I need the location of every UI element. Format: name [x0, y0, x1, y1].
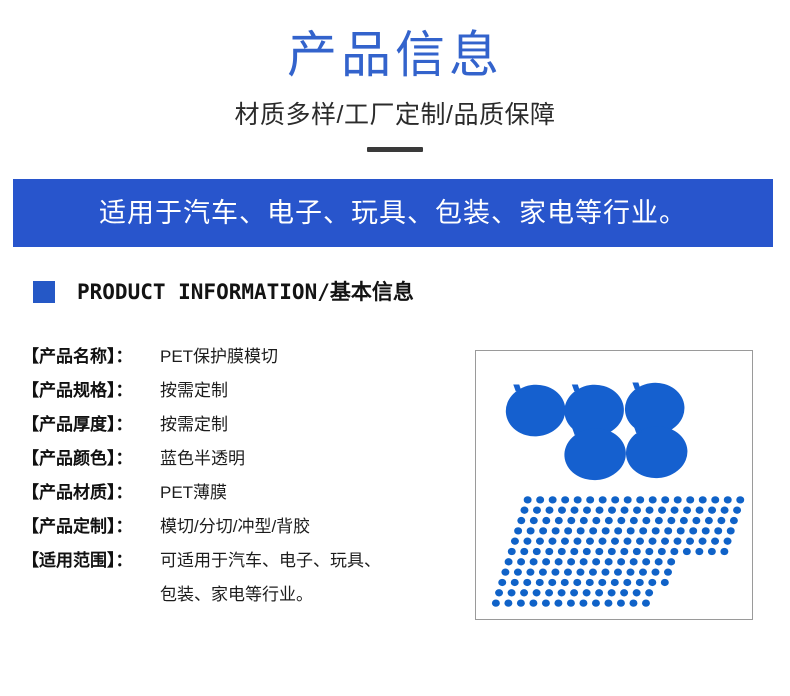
section-title: PRODUCT INFORMATION/基本信息: [77, 280, 414, 304]
die-cut-dot: [689, 527, 697, 534]
die-cut-dot: [664, 527, 672, 534]
die-cut-dot: [596, 507, 604, 514]
die-cut-dot: [536, 538, 544, 545]
product-illustration: [476, 351, 752, 619]
die-cut-dot: [508, 589, 516, 596]
spec-row: 【适用范围】： 可适用于汽车、电子、玩具、: [22, 544, 452, 578]
die-cut-dot: [530, 517, 538, 524]
spec-row: 【产品定制】： 模切/分切/冲型/背胶: [22, 510, 452, 544]
spec-label: 【产品颜色】：: [22, 442, 160, 476]
die-cut-dot: [724, 538, 732, 545]
die-cut-dot: [548, 538, 556, 545]
die-cut-dot: [523, 579, 531, 586]
die-cut-dot: [708, 548, 716, 555]
die-cut-dot: [652, 527, 660, 534]
die-cut-dot: [583, 589, 591, 596]
die-cut-dot: [505, 558, 513, 565]
die-cut-dot: [592, 517, 600, 524]
die-cut-dot: [627, 527, 635, 534]
die-cut-dot: [627, 568, 635, 575]
die-cut-dot: [545, 589, 553, 596]
die-cut-dot: [564, 568, 572, 575]
die-cut-dot: [686, 538, 694, 545]
spec-value: 包装、家电等行业。: [160, 578, 313, 612]
die-cut-dot: [683, 507, 691, 514]
die-cut-dot: [545, 548, 553, 555]
die-cut-dot: [639, 568, 647, 575]
die-cut-dot: [567, 517, 575, 524]
die-cut-dot: [548, 579, 556, 586]
die-cut-dot: [574, 538, 582, 545]
die-cut-dot: [520, 548, 528, 555]
die-cut-dot: [646, 507, 654, 514]
die-cut-dot: [711, 496, 719, 503]
die-cut-dot: [645, 589, 653, 596]
die-cut-dot: [671, 507, 679, 514]
die-cut-dot: [642, 558, 650, 565]
die-cut-dot: [514, 527, 522, 534]
die-cut-dot: [720, 548, 728, 555]
die-cut-dot: [592, 558, 600, 565]
die-cut-dot: [664, 568, 672, 575]
die-cut-dot: [614, 527, 622, 534]
spec-row: 【产品颜色】： 蓝色半透明: [22, 442, 452, 476]
spec-value: 可适用于汽车、电子、玩具、: [160, 544, 381, 578]
spec-row-continuation: 【适用范围】： 包装、家电等行业。: [22, 578, 452, 612]
die-cut-dot: [558, 507, 566, 514]
die-cut-dot: [554, 599, 562, 606]
die-cut-dot: [530, 558, 538, 565]
die-cut-dot: [696, 507, 704, 514]
die-cut-dot: [592, 599, 600, 606]
die-cut-dot: [636, 496, 644, 503]
product-image: [475, 350, 753, 620]
spec-label: 【产品厚度】：: [22, 408, 160, 442]
die-cut-dot: [542, 517, 550, 524]
die-cut-dot: [683, 548, 691, 555]
die-cut-dot: [524, 496, 532, 503]
die-cut-dot: [599, 496, 607, 503]
die-cut-dot: [624, 538, 632, 545]
industry-banner-text: 适用于汽车、电子、玩具、包装、家电等行业。: [99, 197, 687, 229]
die-cut-dot: [595, 589, 603, 596]
die-cut-dot: [511, 538, 519, 545]
die-cut-dot: [708, 507, 716, 514]
die-cut-dot: [533, 507, 541, 514]
die-cut-dot: [570, 589, 578, 596]
die-cut-dot: [608, 548, 616, 555]
die-cut-dot: [658, 548, 666, 555]
die-cut-dot: [639, 527, 647, 534]
die-cut-dot: [617, 599, 625, 606]
page-header: 产品信息 材质多样/工厂定制/品质保障: [0, 0, 790, 152]
die-cut-dot: [517, 599, 525, 606]
die-cut-dot: [558, 548, 566, 555]
die-cut-dot: [633, 589, 641, 596]
die-cut-dot: [495, 589, 503, 596]
die-cut-dot: [576, 568, 584, 575]
die-cut-dot: [648, 579, 656, 586]
die-cut-dot: [599, 538, 607, 545]
page-subtitle: 材质多样/工厂定制/品质保障: [0, 100, 790, 130]
specification-list: 【产品名称】： PET保护膜模切 【产品规格】： 按需定制 【产品厚度】： 按需…: [22, 340, 452, 612]
die-cut-dot: [630, 558, 638, 565]
spec-value: 按需定制: [160, 374, 228, 408]
die-cut-dot: [692, 517, 700, 524]
die-cut-dot: [633, 507, 641, 514]
die-cut-dot: [564, 527, 572, 534]
die-cut-dot: [629, 599, 637, 606]
die-cut-dot: [546, 507, 554, 514]
die-cut-dot: [536, 496, 544, 503]
die-cut-disc: [624, 423, 689, 481]
spec-label: 【适用范围】：: [22, 544, 160, 578]
die-cut-disc-group: [504, 379, 689, 482]
die-cut-dot: [598, 579, 606, 586]
die-cut-dot: [645, 548, 653, 555]
die-cut-dot: [717, 517, 725, 524]
die-cut-dot: [652, 568, 660, 575]
die-cut-dot: [661, 496, 669, 503]
die-cut-dot: [736, 496, 744, 503]
die-cut-dot: [514, 568, 522, 575]
die-cut-dot: [555, 558, 563, 565]
die-cut-dot: [580, 517, 588, 524]
die-cut-dot: [533, 589, 541, 596]
die-cut-dot: [561, 538, 569, 545]
die-cut-dot: [721, 507, 729, 514]
die-cut-dot: [705, 517, 713, 524]
die-cut-dot: [714, 527, 722, 534]
die-cut-dot: [570, 548, 578, 555]
die-cut-dot: [621, 507, 629, 514]
spec-row: 【产品厚度】： 按需定制: [22, 408, 452, 442]
die-cut-dot: [686, 496, 694, 503]
spec-label: 【产品材质】：: [22, 476, 160, 510]
die-cut-dot: [571, 507, 579, 514]
die-cut-dot: [555, 517, 563, 524]
die-cut-dot: [605, 558, 613, 565]
die-cut-dot: [649, 538, 657, 545]
spec-row: 【产品规格】： 按需定制: [22, 374, 452, 408]
die-cut-dot: [605, 517, 613, 524]
die-cut-dot: [727, 527, 735, 534]
die-cut-dot: [595, 548, 603, 555]
die-cut-dot: [536, 579, 544, 586]
die-cut-dot: [604, 599, 612, 606]
die-cut-dot: [674, 496, 682, 503]
die-cut-dot: [539, 527, 547, 534]
dot-array-group: [492, 496, 744, 607]
die-cut-dot: [630, 517, 638, 524]
die-cut-dot: [567, 599, 575, 606]
die-cut-dot: [661, 538, 669, 545]
die-cut-dot: [586, 496, 594, 503]
spec-label: 【产品定制】：: [22, 510, 160, 544]
spec-value: PET保护膜模切: [160, 340, 278, 374]
die-cut-dot: [558, 589, 566, 596]
die-cut-dot: [517, 517, 525, 524]
die-cut-dot: [583, 548, 591, 555]
die-cut-dot: [501, 568, 509, 575]
die-cut-dot: [498, 579, 506, 586]
die-cut-dot: [655, 558, 663, 565]
die-cut-dot: [633, 548, 641, 555]
die-cut-disc: [563, 425, 628, 483]
die-cut-dot: [551, 568, 559, 575]
die-cut-dot: [520, 507, 528, 514]
die-cut-dot: [561, 579, 569, 586]
die-cut-dot: [589, 527, 597, 534]
die-cut-dot: [711, 538, 719, 545]
die-cut-dot: [552, 527, 560, 534]
die-cut-dot: [642, 599, 650, 606]
die-cut-dot: [661, 579, 669, 586]
die-cut-dot: [614, 568, 622, 575]
die-cut-dot: [611, 538, 619, 545]
die-cut-dot: [602, 527, 610, 534]
square-marker-icon: [33, 281, 55, 303]
die-cut-dot: [702, 527, 710, 534]
die-cut-dot: [542, 558, 550, 565]
die-cut-dot: [636, 579, 644, 586]
die-cut-dot: [492, 599, 500, 606]
die-cut-dot: [511, 579, 519, 586]
die-cut-dot: [549, 496, 557, 503]
die-cut-disc: [504, 381, 567, 438]
die-cut-dot: [523, 538, 531, 545]
die-cut-dot: [724, 496, 732, 503]
spec-value: 按需定制: [160, 408, 228, 442]
spec-value: 蓝色半透明: [160, 442, 245, 476]
die-cut-dot: [526, 568, 534, 575]
die-cut-dot: [680, 517, 688, 524]
die-cut-dot: [608, 589, 616, 596]
spec-row: 【产品名称】： PET保护膜模切: [22, 340, 452, 374]
die-cut-dot: [642, 517, 650, 524]
die-cut-dot: [577, 527, 585, 534]
die-cut-dot: [667, 558, 675, 565]
die-cut-dot: [542, 599, 550, 606]
die-cut-dot: [579, 599, 587, 606]
die-cut-dot: [517, 558, 525, 565]
die-cut-dot: [636, 538, 644, 545]
die-cut-dot: [520, 589, 528, 596]
die-cut-dot: [620, 589, 628, 596]
die-cut-dot: [699, 496, 707, 503]
die-cut-dot: [677, 527, 685, 534]
die-cut-dot: [695, 548, 703, 555]
die-cut-dot: [504, 599, 512, 606]
die-cut-dot: [574, 496, 582, 503]
industry-banner: 适用于汽车、电子、玩具、包装、家电等行业。: [13, 179, 773, 247]
die-cut-dot: [589, 568, 597, 575]
die-cut-dot: [699, 538, 707, 545]
section-header: PRODUCT INFORMATION/基本信息: [33, 280, 414, 304]
die-cut-dot: [586, 579, 594, 586]
die-cut-dot: [583, 507, 591, 514]
die-cut-dot: [624, 496, 632, 503]
die-cut-dot: [573, 579, 581, 586]
spec-row: 【产品材质】： PET薄膜: [22, 476, 452, 510]
die-cut-dot: [529, 599, 537, 606]
die-cut-dot: [539, 568, 547, 575]
die-cut-dot: [670, 548, 678, 555]
die-cut-dot: [533, 548, 541, 555]
die-cut-dot: [667, 517, 675, 524]
die-cut-dot: [617, 517, 625, 524]
die-cut-dot: [658, 507, 666, 514]
product-information-page: 产品信息 材质多样/工厂定制/品质保障 适用于汽车、电子、玩具、包装、家电等行业…: [0, 0, 790, 696]
die-cut-dot: [623, 579, 631, 586]
die-cut-dot: [608, 507, 616, 514]
die-cut-dot: [617, 558, 625, 565]
die-cut-dot: [611, 496, 619, 503]
die-cut-dot: [601, 568, 609, 575]
spec-label: 【产品名称】：: [22, 340, 160, 374]
die-cut-dot: [730, 517, 738, 524]
die-cut-dot: [649, 496, 657, 503]
die-cut-dot: [580, 558, 588, 565]
spec-label: 【产品规格】：: [22, 374, 160, 408]
spec-value: PET薄膜: [160, 476, 227, 510]
die-cut-dot: [655, 517, 663, 524]
die-cut-dot: [674, 538, 682, 545]
spec-value: 模切/分切/冲型/背胶: [160, 510, 310, 544]
die-cut-dot: [508, 548, 516, 555]
die-cut-dot: [611, 579, 619, 586]
die-cut-dot: [586, 538, 594, 545]
die-cut-dot: [733, 507, 741, 514]
die-cut-dot: [620, 548, 628, 555]
die-cut-dot: [527, 527, 535, 534]
die-cut-dot: [567, 558, 575, 565]
die-cut-dot: [561, 496, 569, 503]
title-divider: [367, 147, 423, 152]
page-title: 产品信息: [0, 26, 790, 84]
